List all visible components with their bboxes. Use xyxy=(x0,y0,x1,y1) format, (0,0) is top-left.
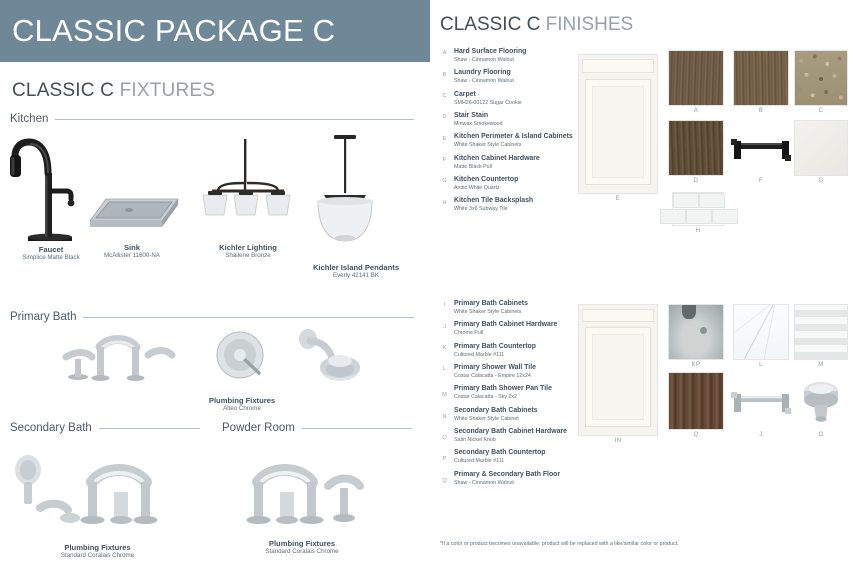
legend-text: Kitchen Countertop Arctic White Quartz xyxy=(454,176,518,192)
legend-text: Laundry Flooring Shaw - Cinnamon Walnut xyxy=(454,69,514,85)
section-label-kitchen: Kitchen xyxy=(10,113,48,125)
swatch-tag: IN xyxy=(578,438,658,444)
swatch-backsplash-h[interactable]: H xyxy=(672,192,724,226)
legend-letter: I xyxy=(440,300,449,316)
mosaic-tile-texture-image xyxy=(794,304,848,360)
swatch-countertop-kp[interactable]: KP xyxy=(668,304,724,360)
legend-title: Hard Surface Flooring xyxy=(454,48,526,57)
section-header-kitchen: Kitchen xyxy=(10,113,414,125)
fixture-pendant: Kichler Island Pendants Everly 42141 BK xyxy=(300,135,412,280)
legend-detail: Arctic White Quartz xyxy=(454,185,518,192)
tub-shower-set-icon xyxy=(10,448,185,532)
legend-title: Primary & Secondary Bath Floor xyxy=(454,471,560,480)
swatch-tag: O xyxy=(794,432,848,438)
swatch-tag: Q xyxy=(668,432,724,438)
fixture-name: Plumbing Fixtures xyxy=(232,539,372,548)
swatch-tag: A xyxy=(668,108,724,114)
showerhead-icon xyxy=(296,325,368,391)
legend-detail: Matte Black Pull xyxy=(454,164,540,171)
finishes-legend-bottom: I Primary Bath Cabinets White Shaker Sty… xyxy=(440,300,585,492)
sink-icon xyxy=(82,187,182,243)
swatch-tag: L xyxy=(733,362,789,368)
finishes-legend-top: A Hard Surface Flooring Shaw - Cinnamon … xyxy=(440,48,585,219)
legend-detail: Shaw - Cinnamon Walnut xyxy=(454,480,560,487)
fixture-sink: Sink McAllister 11600-NA xyxy=(82,187,182,260)
fixtures-heading-light: FIXTURES xyxy=(120,80,216,101)
legend-text: Primary Bath Countertop Cultured Marble … xyxy=(454,343,536,359)
legend-detail: Minwax Smokewood xyxy=(454,121,503,128)
fixture-caption: Sink McAllister 11600-NA xyxy=(82,243,182,260)
divider xyxy=(302,428,412,429)
fixture-shower-valve: Plumbing Fixtures Alteo Chrome xyxy=(212,327,302,413)
swatch-stain-d[interactable]: D xyxy=(668,120,724,176)
page-title: CLASSIC PACKAGE C xyxy=(12,13,335,49)
legend-text: Hard Surface Flooring Shaw - Cinnamon Wa… xyxy=(454,48,526,64)
shower-valve-icon xyxy=(212,327,272,387)
swatch-board-top: E A B C D xyxy=(578,40,848,255)
swatch-tag: J xyxy=(730,432,792,438)
legend-detail: White Shaker Style Cabinets xyxy=(454,309,528,316)
wood-floor-texture-image xyxy=(668,372,724,430)
legend-title: Stair Stain xyxy=(454,112,503,121)
fixture-chandelier: Kichler Lighting Shailene Bronze xyxy=(196,139,300,260)
legend-letter: H xyxy=(440,197,449,213)
swatch-hardware-j[interactable]: J xyxy=(730,372,792,430)
legend-letter: O xyxy=(440,428,449,444)
finishes-heading-strong: CLASSIC C xyxy=(440,14,540,35)
legend-text: Primary Bath Cabinet Hardware Chrome Pul… xyxy=(454,321,557,337)
design-package-board: CLASSIC PACKAGE C CLASSIC C FIXTURES Kit… xyxy=(0,0,853,569)
swatch-tag: M xyxy=(794,362,848,368)
fixture-powder-faucet-set: Plumbing Fixtures Standard Coralais Chro… xyxy=(232,452,372,556)
legend-text: Primary & Secondary Bath Floor Shaw - Ci… xyxy=(454,471,560,487)
right-column: CLASSIC C FINISHES A Hard Surface Floori… xyxy=(430,0,853,569)
wood-texture-image xyxy=(668,50,724,106)
legend-title: Secondary Bath Countertop xyxy=(454,449,546,458)
legend-item: N Secondary Bath Cabinets White Shaker S… xyxy=(440,407,585,423)
cultured-marble-sink-image xyxy=(668,304,724,360)
fixture-detail: McAllister 11600-NA xyxy=(82,252,182,260)
pull-hardware-image xyxy=(730,120,792,176)
chandelier-icon xyxy=(196,139,300,243)
swatch-hardware-o[interactable]: O xyxy=(794,372,848,430)
legend-letter: B xyxy=(440,69,449,85)
legend-title: Secondary Bath Cabinet Hardware xyxy=(454,428,567,437)
legend-text: Kitchen Perimeter & Island Cabinets Whit… xyxy=(454,133,573,149)
legend-text: Kitchen Tile Backsplash White 3x6 Subway… xyxy=(454,197,533,213)
carpet-texture-image xyxy=(794,50,848,106)
legend-letter: A xyxy=(440,48,449,64)
legend-title: Secondary Bath Cabinets xyxy=(454,407,537,416)
chrome-pull-icon xyxy=(730,384,792,418)
legend-item: A Hard Surface Flooring Shaw - Cinnamon … xyxy=(440,48,585,64)
fixture-name: Sink xyxy=(82,243,182,252)
section-label-primary-bath: Primary Bath xyxy=(10,311,76,323)
disclaimer-footnote: *If a color or product becomes unavailab… xyxy=(440,541,679,547)
swatch-hardware-f[interactable]: F xyxy=(730,120,792,176)
widespread-faucet-icon xyxy=(62,331,190,387)
swatch-tag: C xyxy=(794,108,848,114)
legend-detail: Costar Calacatta - Sky 2x2 xyxy=(454,394,552,401)
swatch-cabinet-door-e[interactable]: E xyxy=(578,54,658,194)
legend-item: G Kitchen Countertop Arctic White Quartz xyxy=(440,176,585,192)
legend-detail: Cultured Marble #111 xyxy=(454,352,536,359)
fixture-widespread-faucet xyxy=(62,331,190,392)
legend-item: J Primary Bath Cabinet Hardware Chrome P… xyxy=(440,321,585,337)
swatch-tag: KP xyxy=(668,362,724,368)
fixture-detail: Shailene Bronze xyxy=(196,252,300,260)
stain-texture-image xyxy=(668,120,724,176)
divider xyxy=(55,119,414,120)
divider xyxy=(99,428,200,429)
legend-detail: Costar Calacatta - Empire 12x24 xyxy=(454,373,536,380)
marble-texture-image xyxy=(733,304,789,360)
fixture-caption: Kichler Lighting Shailene Bronze xyxy=(196,243,300,260)
swatch-carpet-c[interactable]: C xyxy=(794,50,848,106)
cabinet-knob-icon xyxy=(796,377,846,425)
fixture-detail: Standard Coralais Chrome xyxy=(232,548,372,556)
fixtures-heading: CLASSIC C FIXTURES xyxy=(12,80,430,102)
legend-item: M Primary Bath Shower Pan Tile Costar Ca… xyxy=(440,385,585,401)
hero-banner: CLASSIC PACKAGE C xyxy=(0,0,430,62)
legend-detail: Chrome Pull xyxy=(454,330,557,337)
legend-item: E Kitchen Perimeter & Island Cabinets Wh… xyxy=(440,133,585,149)
swatch-tag: B xyxy=(733,108,789,114)
swatch-tag: F xyxy=(730,178,792,184)
left-column: CLASSIC PACKAGE C CLASSIC C FIXTURES Kit… xyxy=(0,0,430,569)
swatch-bath-floor-q[interactable]: Q xyxy=(668,372,724,430)
legend-title: Primary Bath Shower Pan Tile xyxy=(454,385,552,394)
fixture-caption: Plumbing Fixtures Alteo Chrome xyxy=(182,396,302,413)
fixture-name: Kichler Lighting xyxy=(196,243,300,252)
legend-detail: Cultured Marble #111 xyxy=(454,458,546,465)
legend-text: Primary Bath Shower Pan Tile Costar Cala… xyxy=(454,385,552,401)
legend-title: Primary Bath Cabinet Hardware xyxy=(454,321,557,330)
quartz-texture-image xyxy=(794,120,848,176)
legend-item: H Kitchen Tile Backsplash White 3x6 Subw… xyxy=(440,197,585,213)
section-label-powder-room: Powder Room xyxy=(222,422,295,434)
legend-letter: N xyxy=(440,407,449,423)
legend-text: Primary Bath Cabinets White Shaker Style… xyxy=(454,300,528,316)
legend-detail: Shaw - Cinnamon Walnut xyxy=(454,78,514,85)
legend-item: L Primary Shower Wall Tile Costar Calaca… xyxy=(440,364,585,380)
swatch-cabinet-door-in[interactable]: IN xyxy=(578,304,658,436)
swatch-tag: H xyxy=(672,228,724,234)
swatch-flooring-a[interactable]: A xyxy=(668,50,724,106)
finishes-heading-light: FINISHES xyxy=(546,14,634,35)
swatch-tag: D xyxy=(668,178,724,184)
legend-letter: M xyxy=(440,385,449,401)
legend-text: Secondary Bath Countertop Cultured Marbl… xyxy=(454,449,546,465)
legend-title: Kitchen Tile Backsplash xyxy=(454,197,533,206)
pendant-icon xyxy=(300,135,412,263)
legend-title: Primary Bath Cabinets xyxy=(454,300,528,309)
legend-letter: Q xyxy=(440,471,449,487)
legend-letter: J xyxy=(440,321,449,337)
legend-letter: G xyxy=(440,176,449,192)
secondary-bath-fixtures: Plumbing Fixtures Standard Coralais Chro… xyxy=(0,434,430,546)
fixture-detail: Alteo Chrome xyxy=(182,405,302,413)
legend-item: F Kitchen Cabinet Hardware Matte Black P… xyxy=(440,155,585,171)
legend-detail: White Shaker Style Cabinet xyxy=(454,416,537,423)
swatch-board-bottom: IN KP L M Q xyxy=(578,300,848,460)
section-label-secondary-bath: Secondary Bath xyxy=(10,422,92,434)
chrome-pull-image xyxy=(730,372,792,430)
swatch-shower-pan-tile-m[interactable]: M xyxy=(794,304,848,360)
legend-letter: E xyxy=(440,133,449,149)
legend-title: Kitchen Perimeter & Island Cabinets xyxy=(454,133,573,142)
fixture-caption: Plumbing Fixtures Standard Coralais Chro… xyxy=(232,539,372,556)
legend-item: B Laundry Flooring Shaw - Cinnamon Walnu… xyxy=(440,69,585,85)
legend-item: I Primary Bath Cabinets White Shaker Sty… xyxy=(440,300,585,316)
fixture-caption: Plumbing Fixtures Standard Coralais Chro… xyxy=(10,543,185,560)
kitchen-fixtures: Faucet Simplice Matte Black Sink Mc xyxy=(0,125,430,305)
swatch-countertop-g[interactable]: G xyxy=(794,120,848,176)
legend-text: Secondary Bath Cabinets White Shaker Sty… xyxy=(454,407,537,423)
legend-title: Kitchen Countertop xyxy=(454,176,518,185)
legend-text: Primary Shower Wall Tile Costar Calacatt… xyxy=(454,364,536,380)
legend-item: Q Primary & Secondary Bath Floor Shaw - … xyxy=(440,471,585,487)
legend-text: Stair Stain Minwax Smokewood xyxy=(454,112,503,128)
swatch-flooring-b[interactable]: B xyxy=(733,50,789,106)
legend-detail: Shaw - Cinnamon Walnut xyxy=(454,57,526,64)
legend-item: K Primary Bath Countertop Cultured Marbl… xyxy=(440,343,585,359)
fixture-showerhead xyxy=(296,325,368,396)
legend-text: Secondary Bath Cabinet Hardware Satin Ni… xyxy=(454,428,567,444)
legend-detail: Satin Nickel Knob xyxy=(454,437,567,444)
swatch-shower-wall-tile-l[interactable]: L xyxy=(733,304,789,360)
legend-detail: White 3x6 Subway Tile xyxy=(454,206,533,213)
fixture-name: Plumbing Fixtures xyxy=(182,396,302,405)
legend-letter: K xyxy=(440,343,449,359)
legend-letter: P xyxy=(440,449,449,465)
legend-detail: White Shaker Style Cabinets xyxy=(454,142,573,149)
fixture-name: Kichler Island Pendants xyxy=(300,263,412,272)
legend-item: P Secondary Bath Countertop Cultured Mar… xyxy=(440,449,585,465)
cabinet-door-image xyxy=(578,304,658,436)
legend-text: Carpet SMH26-00122 Sugar Cookie xyxy=(454,91,522,107)
legend-title: Primary Shower Wall Tile xyxy=(454,364,536,373)
fixture-detail: Standard Coralais Chrome xyxy=(10,552,185,560)
legend-item: C Carpet SMH26-00122 Sugar Cookie xyxy=(440,91,585,107)
swatch-tag: G xyxy=(794,178,848,184)
dual-section-headers: Secondary Bath Powder Room xyxy=(10,422,430,434)
legend-title: Laundry Flooring xyxy=(454,69,514,78)
legend-letter: C xyxy=(440,91,449,107)
fixture-caption: Kichler Island Pendants Everly 42141 BK xyxy=(300,263,412,280)
powder-faucet-set-icon xyxy=(232,452,372,530)
finishes-heading: CLASSIC C FINISHES xyxy=(440,14,853,36)
fixture-detail: Everly 42141 BK xyxy=(300,272,412,280)
divider xyxy=(83,317,414,318)
legend-title: Primary Bath Countertop xyxy=(454,343,536,352)
cabinet-pull-icon xyxy=(730,131,792,165)
swatch-tag: E xyxy=(578,196,658,202)
fixtures-heading-strong: CLASSIC C xyxy=(12,80,114,101)
legend-detail: SMH26-00122 Sugar Cookie xyxy=(454,100,522,107)
legend-text: Kitchen Cabinet Hardware Matte Black Pul… xyxy=(454,155,540,171)
legend-item: D Stair Stain Minwax Smokewood xyxy=(440,112,585,128)
legend-title: Kitchen Cabinet Hardware xyxy=(454,155,540,164)
section-header-secondary-bath: Secondary Bath xyxy=(10,422,200,434)
wood-texture-image xyxy=(733,50,789,106)
primary-bath-fixtures: Plumbing Fixtures Alteo Chrome xyxy=(0,323,430,411)
legend-letter: F xyxy=(440,155,449,171)
legend-title: Carpet xyxy=(454,91,522,100)
subway-tile-image xyxy=(672,192,724,226)
section-header-powder-room: Powder Room xyxy=(222,422,412,434)
legend-letter: L xyxy=(440,364,449,380)
fixture-tub-shower-set: Plumbing Fixtures Standard Coralais Chro… xyxy=(10,448,185,560)
nickel-knob-image xyxy=(794,372,848,430)
section-header-primary-bath: Primary Bath xyxy=(10,311,414,323)
fixture-name: Plumbing Fixtures xyxy=(10,543,185,552)
legend-letter: D xyxy=(440,112,449,128)
cabinet-door-image xyxy=(578,54,658,194)
legend-item: O Secondary Bath Cabinet Hardware Satin … xyxy=(440,428,585,444)
